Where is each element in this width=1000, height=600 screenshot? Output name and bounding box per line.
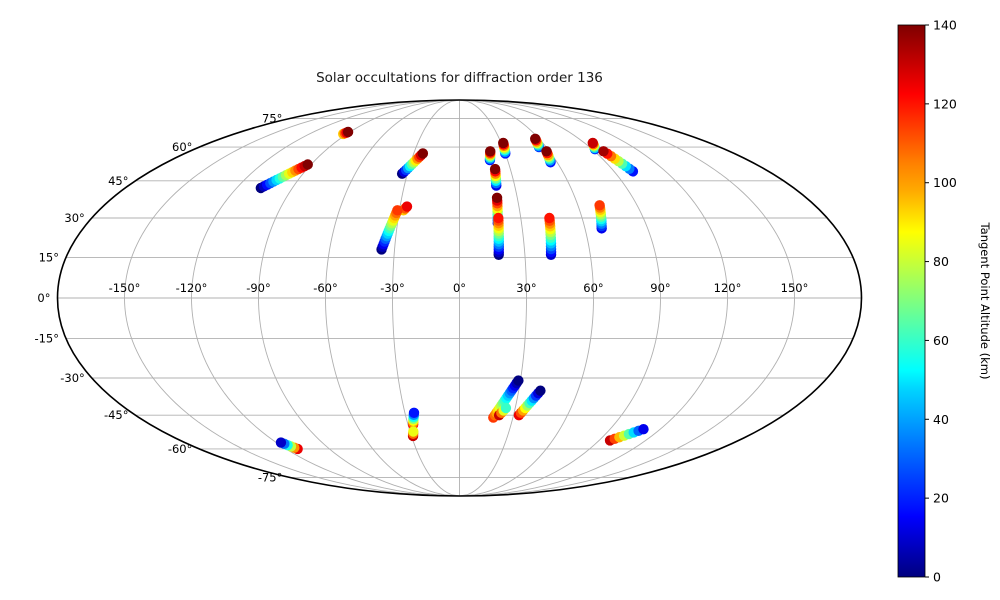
tangent-point-marker <box>343 127 353 137</box>
page-title: Solar occultations for diffraction order… <box>316 70 603 86</box>
lat-tick--15: -15° <box>34 332 59 346</box>
tangent-point-marker <box>530 134 540 144</box>
lat-tick-30: 30° <box>64 211 84 225</box>
lon-tick--150: -150° <box>109 281 141 295</box>
colorbar-tick-label-40: 40 <box>933 412 949 427</box>
tangent-point-marker <box>485 146 495 156</box>
lat-tick-45: 45° <box>108 174 128 188</box>
tangent-point-marker <box>501 403 511 413</box>
lon-tick--120: -120° <box>176 281 208 295</box>
lon-tick-0: 0° <box>453 281 466 295</box>
occultation-track <box>408 426 419 441</box>
colorbar-tick-label-0: 0 <box>933 570 941 585</box>
tangent-point-marker <box>588 138 598 148</box>
tangent-point-marker <box>418 148 428 158</box>
tangent-point-marker <box>276 437 286 447</box>
tangent-point-marker <box>402 201 412 211</box>
occultation-track <box>485 146 496 165</box>
tangent-point-marker <box>408 426 418 436</box>
lat-tick-15: 15° <box>39 251 59 265</box>
tangent-point-marker <box>594 200 604 210</box>
lat-tick-60: 60° <box>172 140 192 154</box>
colorbar-tick-label-100: 100 <box>933 175 957 190</box>
occultation-track <box>493 213 504 260</box>
tangent-point-marker <box>541 146 551 156</box>
tangent-point-marker <box>490 164 500 174</box>
lon-tick-150: 150° <box>781 281 809 295</box>
tangent-point-marker <box>409 408 419 418</box>
colorbar-tick-label-80: 80 <box>933 254 949 269</box>
figure-canvas: Solar occultations for diffraction order… <box>0 0 1000 600</box>
tangent-point-marker <box>544 213 554 223</box>
tangent-point-marker <box>535 386 545 396</box>
lat-tick--30: -30° <box>60 371 85 385</box>
lat-tick--45: -45° <box>104 408 129 422</box>
lat-tick--75: -75° <box>258 470 283 484</box>
tangent-point-marker <box>493 213 503 223</box>
lon-tick--60: -60° <box>313 281 338 295</box>
occultation-track <box>490 164 502 191</box>
colorbar-tick-label-20: 20 <box>933 491 949 506</box>
tangent-point-marker <box>498 138 508 148</box>
lon-tick-30: 30° <box>516 281 536 295</box>
figure-root: Solar occultations for diffraction order… <box>0 0 1000 600</box>
tangent-point-marker <box>492 193 502 203</box>
lon-tick--90: -90° <box>246 281 271 295</box>
tangent-point-marker <box>638 424 648 434</box>
colorbar-tick-label-120: 120 <box>933 96 957 111</box>
lat-tick-75: 75° <box>262 112 282 126</box>
tangent-point-marker <box>303 159 313 169</box>
colorbar-tick-label-140: 140 <box>933 18 957 33</box>
colorbar-gradient <box>898 25 925 577</box>
occultation-track <box>544 213 556 260</box>
colorbar-axis-label: Tangent Point Altitude (km) <box>978 222 992 380</box>
tangent-point-marker <box>513 375 523 385</box>
lon-tick--30: -30° <box>380 281 405 295</box>
colorbar-tick-label-60: 60 <box>933 333 949 348</box>
tangent-point-marker <box>598 146 608 156</box>
lon-tick-120: 120° <box>714 281 742 295</box>
tangent-point-marker <box>392 205 402 215</box>
lat-tick-0: 0° <box>37 291 50 305</box>
figure-background <box>0 0 1000 600</box>
lon-tick-90: 90° <box>650 281 670 295</box>
lat-tick--60: -60° <box>168 442 193 456</box>
lon-tick-60: 60° <box>583 281 603 295</box>
